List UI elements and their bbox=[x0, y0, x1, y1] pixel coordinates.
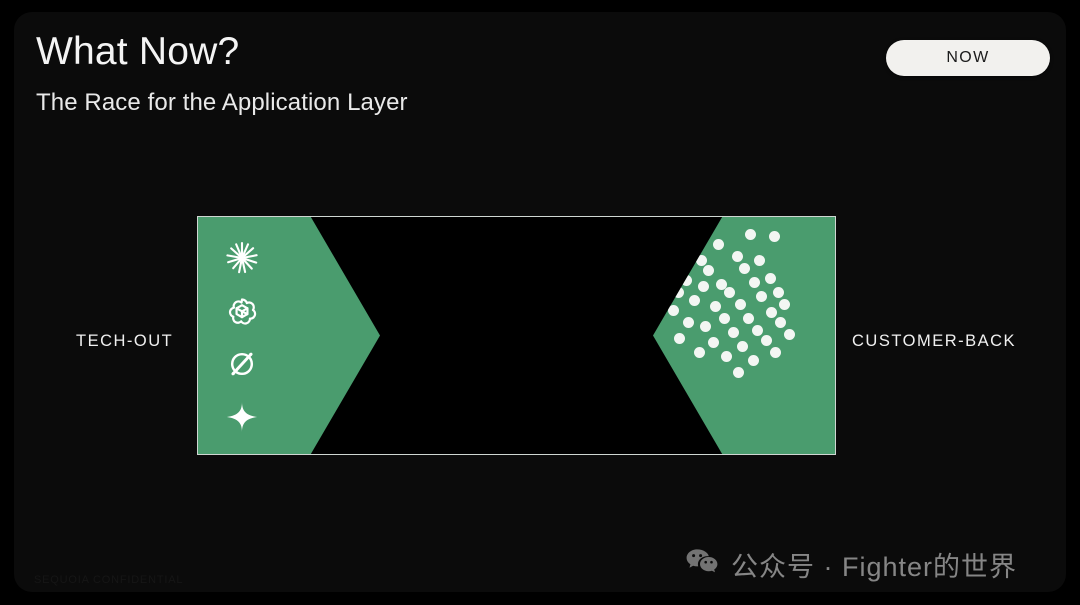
wechat-watermark: 公众号 · Fighter的世界 bbox=[686, 545, 1017, 584]
customer-dot bbox=[721, 351, 732, 362]
anthropic-burst-icon bbox=[222, 238, 262, 278]
customer-dot bbox=[716, 279, 727, 290]
customer-dot bbox=[766, 307, 777, 318]
customer-dot bbox=[770, 347, 781, 358]
customer-dot bbox=[728, 327, 739, 338]
page-title: What Now? bbox=[36, 30, 239, 74]
customer-dot bbox=[708, 337, 719, 348]
status-badge-label: NOW bbox=[946, 49, 989, 67]
customer-dot bbox=[696, 255, 707, 266]
customer-dot bbox=[779, 299, 790, 310]
customer-dot bbox=[673, 287, 684, 298]
label-customer-back: CUSTOMER-BACK bbox=[852, 332, 1016, 351]
customer-dot bbox=[765, 273, 776, 284]
page-subtitle: The Race for the Application Layer bbox=[36, 89, 408, 117]
customer-dot-field bbox=[653, 217, 835, 454]
customer-dot bbox=[724, 287, 735, 298]
customer-dot bbox=[733, 367, 744, 378]
customer-dot bbox=[752, 325, 763, 336]
customer-dot bbox=[743, 313, 754, 324]
ai-logo-stack bbox=[208, 231, 276, 443]
customer-dot bbox=[739, 263, 750, 274]
openai-logo-icon bbox=[222, 291, 262, 331]
customer-dot bbox=[700, 321, 711, 332]
customer-dot bbox=[681, 275, 692, 286]
customer-dot bbox=[784, 329, 795, 340]
customer-dot bbox=[754, 255, 765, 266]
customer-dot bbox=[674, 333, 685, 344]
tech-out-chevron bbox=[198, 217, 380, 454]
status-badge-now[interactable]: NOW bbox=[886, 40, 1050, 76]
customer-dot bbox=[719, 313, 730, 324]
customer-dot bbox=[713, 239, 724, 250]
customer-dot bbox=[775, 317, 786, 328]
customer-dot bbox=[668, 305, 679, 316]
customer-dot bbox=[737, 341, 748, 352]
customer-dot bbox=[689, 295, 700, 306]
label-tech-out: TECH-OUT bbox=[76, 332, 173, 351]
customer-dot bbox=[761, 335, 772, 346]
customer-dot bbox=[769, 231, 780, 242]
customer-dot bbox=[748, 355, 759, 366]
customer-dot bbox=[710, 301, 721, 312]
customer-dot bbox=[703, 265, 714, 276]
customer-dot bbox=[745, 229, 756, 240]
customer-back-chevron bbox=[653, 217, 835, 454]
customer-dot bbox=[698, 281, 709, 292]
perplexity-circle-slash-icon bbox=[222, 344, 262, 384]
watermark-text: 公众号 · Fighter的世界 bbox=[731, 545, 1017, 584]
customer-dot bbox=[683, 317, 694, 328]
confidential-footer: SEQUOIA CONFIDENTIAL bbox=[34, 574, 183, 586]
customer-dot bbox=[732, 251, 743, 262]
gemini-sparkle-icon bbox=[222, 397, 262, 437]
diagram-frame bbox=[197, 216, 836, 455]
customer-dot bbox=[773, 287, 784, 298]
customer-dot bbox=[694, 347, 705, 358]
slide-canvas: What Now? The Race for the Application L… bbox=[14, 12, 1066, 592]
wechat-icon bbox=[686, 548, 718, 581]
customer-dot bbox=[749, 277, 760, 288]
customer-dot bbox=[735, 299, 746, 310]
customer-dot bbox=[756, 291, 767, 302]
